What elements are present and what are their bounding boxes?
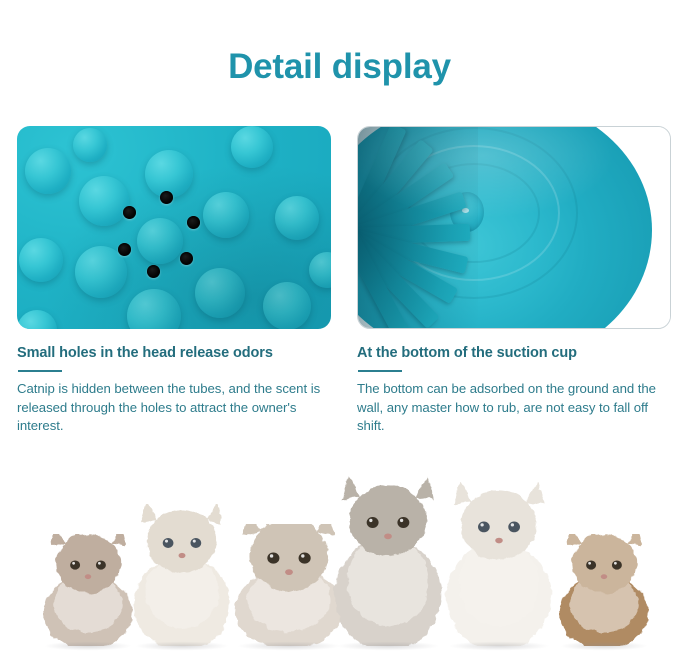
silicone-bump — [17, 310, 57, 329]
cat-6-brown-tabby-kitten — [552, 534, 656, 646]
caption-suction-cup: At the bottom of the suction cup The bot… — [357, 329, 671, 436]
cat-1-small-tabby-kitten — [36, 534, 140, 646]
silicone-bump — [79, 176, 129, 226]
caption-head-holes: Small holes in the head release odors Ca… — [17, 329, 331, 436]
silicone-bump — [137, 218, 183, 264]
odor-hole — [123, 206, 136, 219]
silicone-bump — [203, 192, 249, 238]
cat-5-white-persian — [438, 482, 560, 646]
caption-body: Catnip is hidden between the tubes, and … — [17, 380, 331, 436]
cat-4-grey-tabby-large — [326, 476, 450, 646]
detail-display-page: Detail display Small holes in the head r… — [0, 0, 679, 662]
silicone-bump — [73, 128, 107, 162]
silicone-bump — [127, 289, 181, 329]
feature-card-row: Small holes in the head release odors Ca… — [17, 126, 672, 436]
cat-2-cream-kitten — [126, 504, 238, 646]
odor-hole — [180, 252, 193, 265]
cat-shadow — [546, 640, 662, 652]
caption-body: The bottom can be adsorbed on the ground… — [357, 380, 671, 436]
caption-divider — [18, 370, 62, 372]
page-title: Detail display — [0, 47, 679, 87]
odor-hole — [187, 216, 200, 229]
feature-card-head-holes: Small holes in the head release odors Ca… — [17, 126, 331, 436]
silicone-bump — [195, 268, 245, 318]
product-photo-head-holes[interactable] — [17, 126, 331, 329]
silicone-bump — [275, 196, 319, 240]
odor-hole — [147, 265, 160, 278]
silicone-bump — [25, 148, 71, 194]
caption-divider — [358, 370, 402, 372]
silicone-bump — [231, 126, 273, 168]
persian-cats-row — [0, 455, 679, 662]
photo-left-shadow — [358, 127, 478, 329]
odor-hole — [118, 243, 131, 256]
odor-hole — [160, 191, 173, 204]
caption-title: At the bottom of the suction cup — [357, 345, 671, 361]
silicone-bump — [19, 238, 63, 282]
silicone-bump — [309, 252, 331, 288]
product-photo-suction-cup[interactable] — [357, 126, 671, 329]
feature-card-suction-cup: At the bottom of the suction cup The bot… — [357, 126, 671, 436]
silicone-bump — [263, 282, 311, 329]
caption-title: Small holes in the head release odors — [17, 345, 331, 361]
